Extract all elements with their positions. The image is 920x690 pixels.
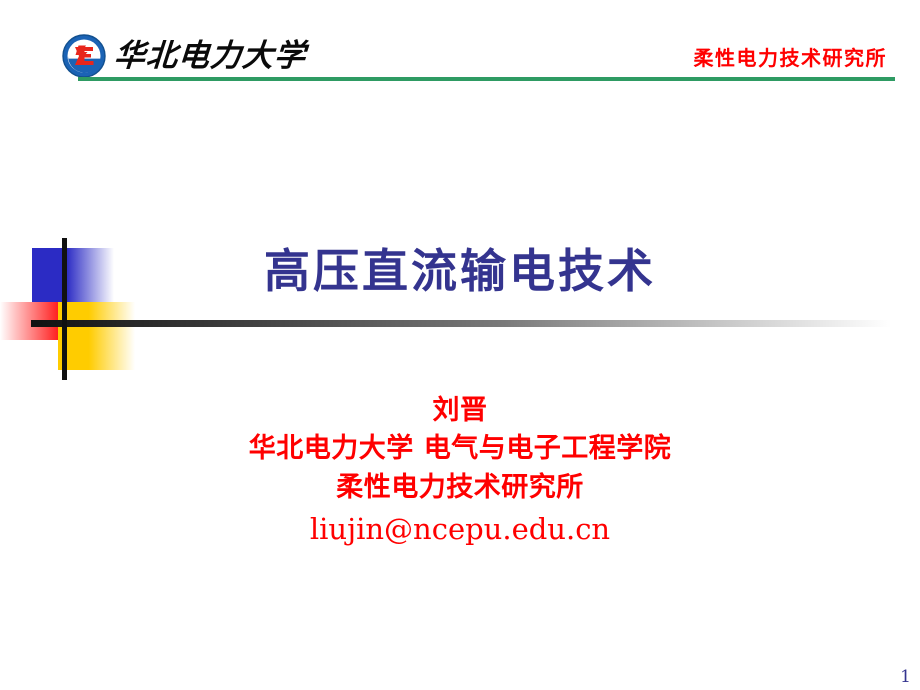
header-divider-rule xyxy=(78,77,895,81)
author-info-block: 刘晋 华北电力大学 电气与电子工程学院 柔性电力技术研究所 liujin@nce… xyxy=(0,392,920,550)
slide-header: 华北电力大学 柔性电力技术研究所 xyxy=(0,0,920,95)
author-email: liujin@ncepu.edu.cn xyxy=(0,509,920,550)
presentation-slide: 华北电力大学 柔性电力技术研究所 高压直流输电技术 刘晋 华北电力大学 电气与电… xyxy=(0,0,920,690)
slide-title: 高压直流输电技术 xyxy=(0,245,920,298)
author-affiliation-institute: 柔性电力技术研究所 xyxy=(0,469,920,507)
institute-header-label: 柔性电力技术研究所 xyxy=(694,48,888,68)
author-affiliation-school: 华北电力大学 电气与电子工程学院 xyxy=(0,430,920,468)
author-name: 刘晋 xyxy=(0,392,920,430)
university-logo: 华北电力大学 xyxy=(62,33,306,79)
deco-yellow-square xyxy=(58,302,135,370)
ncepu-emblem-icon xyxy=(62,34,106,78)
page-number: 1 xyxy=(900,669,911,686)
university-name-wordmark: 华北电力大学 xyxy=(113,41,307,72)
deco-horizontal-line xyxy=(31,320,891,327)
